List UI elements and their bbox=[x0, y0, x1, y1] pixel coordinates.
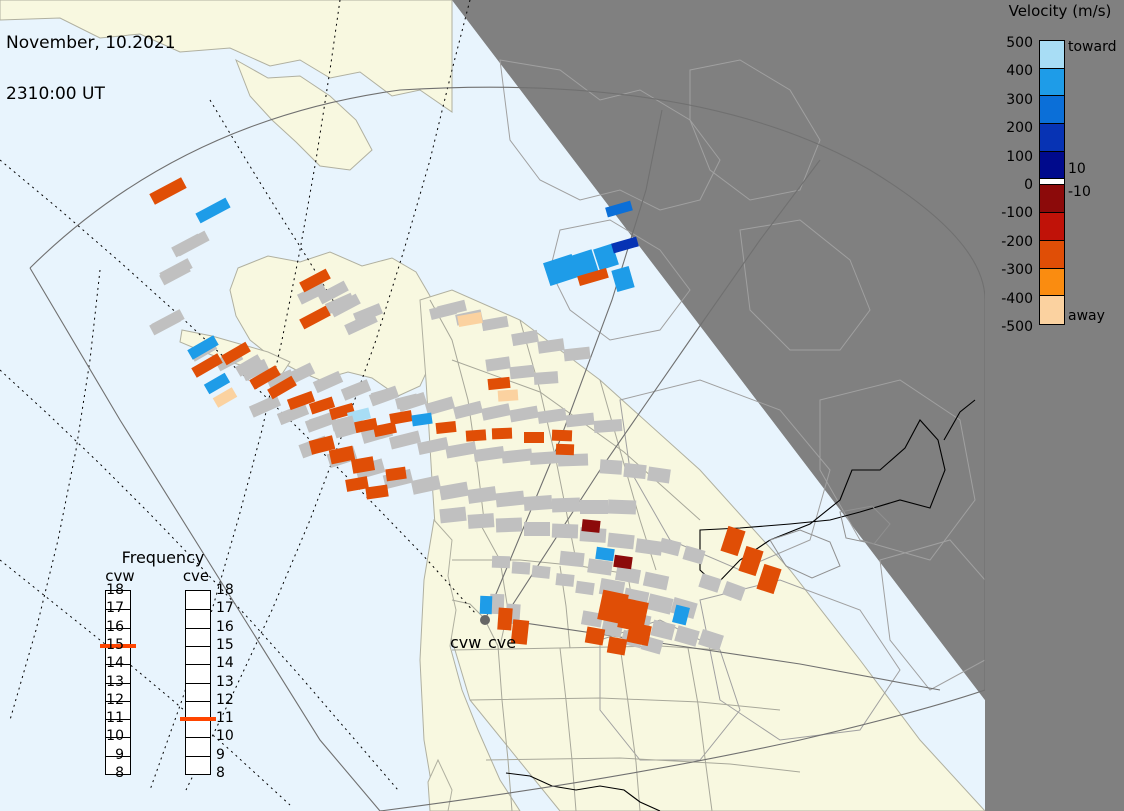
frequency-scale-label: 15 bbox=[102, 638, 124, 652]
velocity-cell[interactable] bbox=[585, 627, 606, 646]
frequency-scale-label: 17 bbox=[102, 601, 124, 615]
colorbar-tick: 300 bbox=[1006, 93, 1033, 107]
colorbar-tick: 500 bbox=[1006, 36, 1033, 50]
velocity-cell[interactable] bbox=[607, 637, 628, 656]
frequency-scale-label: 14 bbox=[102, 656, 124, 670]
ground-scatter-cell[interactable] bbox=[552, 498, 580, 513]
velocity-cell[interactable] bbox=[595, 547, 614, 561]
frequency-scale-label: 18 bbox=[102, 583, 124, 597]
colorbar-gradient-strip[interactable] bbox=[1039, 40, 1065, 325]
frequency-scale-label: 17 bbox=[216, 601, 238, 615]
radar-map-page: cvw cve November, 10.2021 2310:00 UT Fre… bbox=[0, 0, 1124, 811]
colorbar-segment bbox=[1040, 69, 1064, 97]
frequency-scale-label: 9 bbox=[102, 748, 124, 762]
colorbar-segment bbox=[1040, 96, 1064, 124]
ground-scatter-cell[interactable] bbox=[512, 561, 531, 574]
colorbar-tick: -400 bbox=[1001, 292, 1033, 306]
velocity-cell[interactable] bbox=[480, 596, 493, 614]
frequency-bar-cve[interactable] bbox=[185, 590, 211, 775]
frequency-scale-label: 14 bbox=[216, 656, 238, 670]
frequency-scale-label: 18 bbox=[216, 583, 238, 597]
frequency-scale-label: 15 bbox=[216, 638, 238, 652]
map-panel[interactable]: cvw cve November, 10.2021 2310:00 UT Fre… bbox=[0, 0, 985, 811]
ground-scatter-cell[interactable] bbox=[468, 513, 495, 529]
ground-scatter-cell[interactable] bbox=[492, 556, 510, 569]
colorbar-segment bbox=[1040, 241, 1064, 269]
velocity-cell[interactable] bbox=[556, 444, 574, 456]
frequency-scale-label: 12 bbox=[102, 693, 124, 707]
frequency-scale-label: 11 bbox=[102, 711, 124, 725]
radar-site-label-cvw: cvw bbox=[450, 633, 481, 652]
ground-scatter-cell[interactable] bbox=[524, 495, 553, 511]
colorbar-tick: 0 bbox=[1024, 178, 1033, 192]
velocity-cell[interactable] bbox=[613, 555, 632, 569]
frequency-tick bbox=[186, 737, 210, 738]
frequency-legend: Frequency cvw 18171615141312111098 cve 1… bbox=[88, 548, 238, 788]
frequency-column-cve: cve 18171615141312111098 bbox=[166, 568, 226, 584]
velocity-cell[interactable] bbox=[498, 389, 519, 401]
ground-scatter-cell[interactable] bbox=[594, 419, 623, 433]
colorbar-upper-threshold: 10 bbox=[1068, 162, 1086, 176]
frequency-tick bbox=[186, 628, 210, 629]
ground-scatter-cell[interactable] bbox=[608, 500, 636, 515]
frequency-scale-label: 16 bbox=[102, 620, 124, 634]
frequency-tick bbox=[186, 664, 210, 665]
frequency-scale-label: 12 bbox=[216, 693, 238, 707]
timestamp-block: November, 10.2021 2310:00 UT bbox=[6, 1, 176, 137]
timestamp-time: 2310:00 UT bbox=[6, 86, 176, 103]
colorbar-tick: 200 bbox=[1006, 121, 1033, 135]
frequency-scale-label: 13 bbox=[102, 675, 124, 689]
colorbar-segment bbox=[1040, 185, 1064, 213]
ground-scatter-cell[interactable] bbox=[558, 453, 588, 466]
ground-scatter-cell[interactable] bbox=[607, 533, 634, 550]
frequency-scale-label: 13 bbox=[216, 675, 238, 689]
velocity-cell[interactable] bbox=[581, 519, 600, 533]
frequency-scale-label: 11 bbox=[216, 711, 238, 725]
ground-scatter-cell[interactable] bbox=[439, 507, 466, 524]
colorbar-segment bbox=[1040, 124, 1064, 152]
colorbar-tick: 100 bbox=[1006, 150, 1033, 164]
colorbar-segment bbox=[1040, 269, 1064, 297]
frequency-tick bbox=[186, 701, 210, 702]
ground-scatter-cell[interactable] bbox=[552, 524, 578, 539]
ground-scatter-cell[interactable] bbox=[524, 522, 550, 536]
ground-scatter-cell[interactable] bbox=[623, 463, 646, 479]
frequency-scale-label: 8 bbox=[216, 766, 238, 780]
frequency-scale-label: 10 bbox=[216, 729, 238, 743]
ground-scatter-cell[interactable] bbox=[495, 491, 524, 508]
frequency-marker bbox=[180, 717, 216, 721]
colorbar-tick: -300 bbox=[1001, 263, 1033, 277]
velocity-cell[interactable] bbox=[435, 421, 456, 434]
frequency-scale-cve: 18171615141312111098 bbox=[216, 590, 238, 775]
velocity-cell[interactable] bbox=[466, 429, 487, 441]
frequency-legend-title: Frequency bbox=[88, 548, 238, 567]
ground-scatter-cell[interactable] bbox=[555, 573, 574, 587]
ground-scatter-cell[interactable] bbox=[509, 365, 534, 379]
colorbar-tick: -200 bbox=[1001, 235, 1033, 249]
colorbar-segment bbox=[1040, 296, 1064, 324]
radar-site-marker[interactable] bbox=[480, 615, 490, 625]
colorbar-tick: 400 bbox=[1006, 64, 1033, 78]
radar-site-label-cve: cve bbox=[488, 633, 516, 652]
frequency-scale-label: 10 bbox=[102, 729, 124, 743]
ground-scatter-cell[interactable] bbox=[496, 518, 522, 533]
ground-scatter-cell[interactable] bbox=[531, 565, 550, 579]
ground-scatter-cell[interactable] bbox=[559, 551, 584, 567]
colorbar-tick: -100 bbox=[1001, 206, 1033, 220]
colorbar-title: Velocity (m/s) bbox=[997, 2, 1123, 20]
frequency-scale-cvw: 18171615141312111098 bbox=[80, 590, 102, 775]
ground-scatter-cell[interactable] bbox=[530, 451, 561, 465]
ground-scatter-cell[interactable] bbox=[575, 581, 594, 595]
ground-scatter-cell[interactable] bbox=[580, 500, 608, 514]
velocity-cell[interactable] bbox=[497, 608, 513, 631]
colorbar-segment bbox=[1040, 41, 1064, 69]
velocity-cell[interactable] bbox=[524, 432, 544, 443]
timestamp-date: November, 10.2021 bbox=[6, 35, 176, 52]
velocity-cell[interactable] bbox=[552, 430, 572, 442]
colorbar-away-label: away bbox=[1068, 309, 1105, 323]
velocity-cell[interactable] bbox=[492, 428, 512, 440]
ground-scatter-cell[interactable] bbox=[534, 371, 559, 385]
colorbar-segment bbox=[1040, 152, 1064, 180]
colorbar-tick-labels: 5004003002001000-100-200-300-400-500 bbox=[985, 32, 1035, 332]
velocity-cell[interactable] bbox=[487, 377, 510, 390]
colorbar-lower-threshold: -10 bbox=[1068, 185, 1091, 199]
colorbar-tick: -500 bbox=[1001, 320, 1033, 334]
colorbar-side-labels: toward 10 -10 away bbox=[1068, 32, 1124, 332]
velocity-colorbar-panel: Velocity (m/s) 5004003002001000-100-200-… bbox=[985, 0, 1124, 811]
ground-scatter-cell[interactable] bbox=[600, 459, 623, 475]
frequency-scale-label: 9 bbox=[216, 748, 238, 762]
colorbar-toward-label: toward bbox=[1068, 40, 1116, 54]
frequency-tick bbox=[186, 646, 210, 647]
frequency-tick bbox=[186, 683, 210, 684]
frequency-column-cvw: cvw 18171615141312111098 bbox=[90, 568, 150, 584]
frequency-tick bbox=[186, 609, 210, 610]
frequency-scale-label: 16 bbox=[216, 620, 238, 634]
frequency-tick bbox=[186, 756, 210, 757]
frequency-scale-label: 8 bbox=[102, 766, 124, 780]
colorbar-segment bbox=[1040, 213, 1064, 241]
